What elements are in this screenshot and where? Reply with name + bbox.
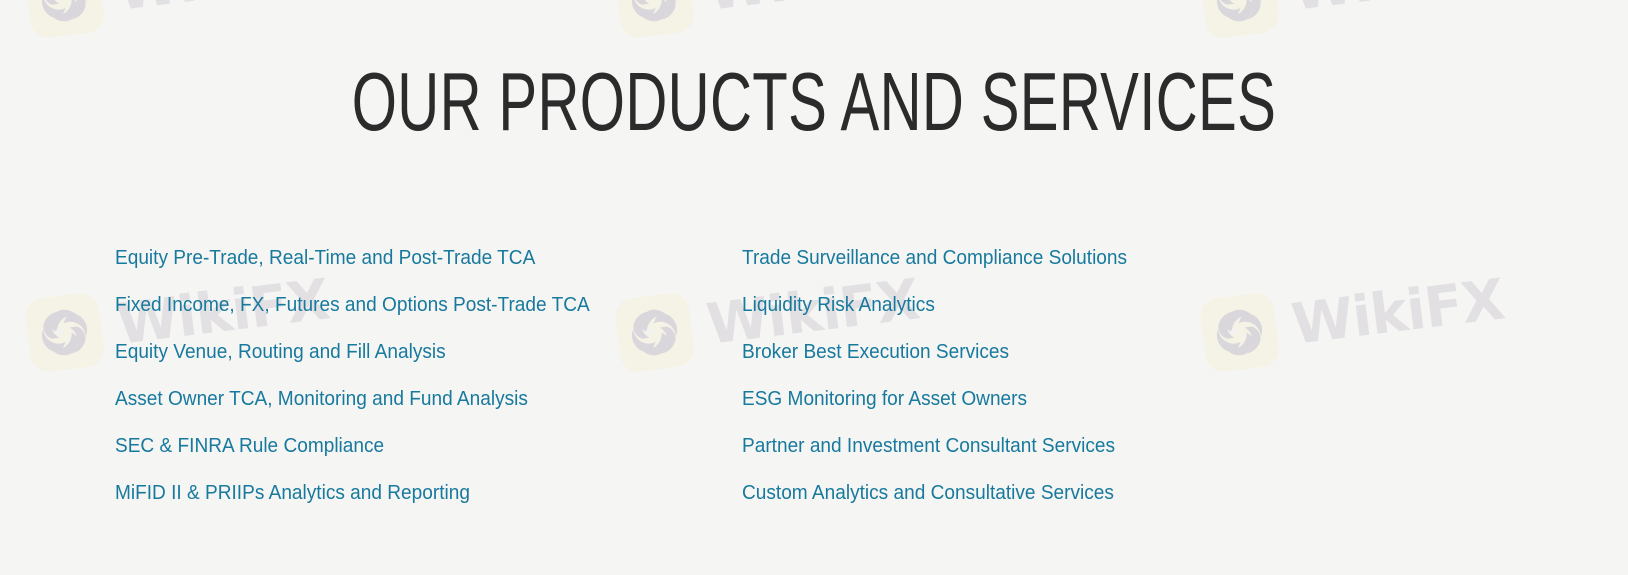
service-link[interactable]: Liquidity Risk Analytics bbox=[742, 281, 1458, 328]
page-content: OUR PRODUCTS AND SERVICES Equity Pre-Tra… bbox=[0, 0, 1628, 575]
page-title: OUR PRODUCTS AND SERVICES bbox=[244, 58, 1384, 145]
service-link[interactable]: Asset Owner TCA, Monitoring and Fund Ana… bbox=[115, 375, 698, 422]
service-link[interactable]: Trade Surveillance and Compliance Soluti… bbox=[742, 234, 1458, 281]
services-right-column: Trade Surveillance and Compliance Soluti… bbox=[742, 234, 1512, 516]
service-link[interactable]: SEC & FINRA Rule Compliance bbox=[115, 422, 698, 469]
service-link[interactable]: Custom Analytics and Consultative Servic… bbox=[742, 469, 1458, 516]
service-link[interactable]: Equity Pre-Trade, Real-Time and Post-Tra… bbox=[115, 234, 698, 281]
service-link[interactable]: Broker Best Execution Services bbox=[742, 328, 1458, 375]
service-link[interactable]: Fixed Income, FX, Futures and Options Po… bbox=[115, 281, 698, 328]
services-left-column: Equity Pre-Trade, Real-Time and Post-Tra… bbox=[0, 234, 742, 516]
service-link[interactable]: Partner and Investment Consultant Servic… bbox=[742, 422, 1458, 469]
services-columns: Equity Pre-Trade, Real-Time and Post-Tra… bbox=[0, 234, 1628, 516]
service-link[interactable]: ESG Monitoring for Asset Owners bbox=[742, 375, 1458, 422]
service-link[interactable]: MiFID II & PRIIPs Analytics and Reportin… bbox=[115, 469, 698, 516]
service-link[interactable]: Equity Venue, Routing and Fill Analysis bbox=[115, 328, 698, 375]
